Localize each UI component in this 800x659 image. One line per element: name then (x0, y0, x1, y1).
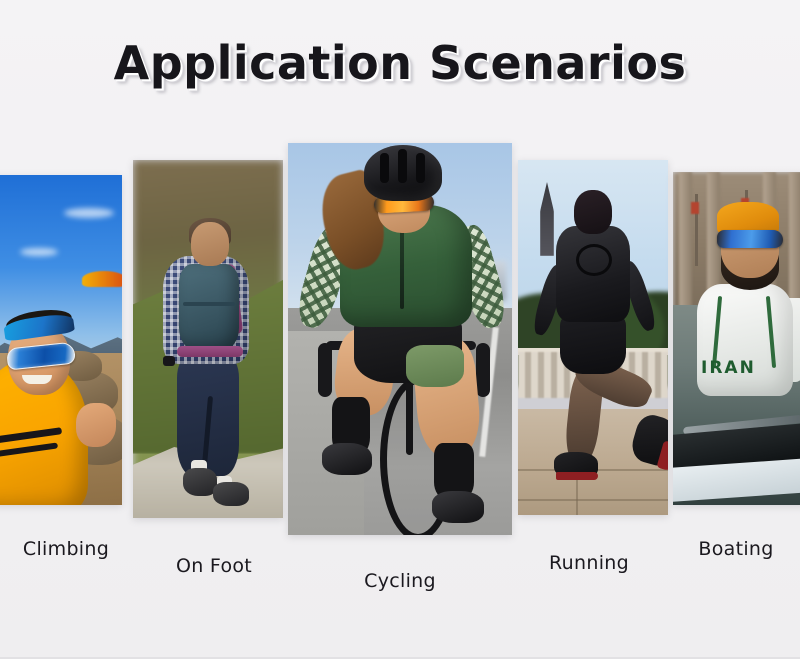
helmet-vent (380, 153, 389, 183)
scenario-label-climbing: Climbing (6, 538, 126, 560)
handlebar-drop (476, 343, 490, 397)
scenario-label-boating: Boating (676, 538, 796, 560)
white-rowing-jersey (697, 284, 793, 396)
scenario-label-running: Running (529, 552, 649, 574)
runner-head (574, 190, 612, 234)
shoe-sole (556, 472, 598, 480)
backpack (179, 264, 239, 350)
wrist-watch-icon (163, 356, 175, 366)
on-foot-photo (133, 160, 283, 518)
cycling-shoe (432, 491, 484, 523)
column (789, 172, 800, 312)
handlebar-drop (318, 343, 332, 397)
backpack-waist-belt (177, 346, 243, 357)
scenario-panel-on-foot[interactable] (133, 160, 283, 518)
hiker-head (191, 222, 229, 266)
scenario-label-on-foot: On Foot (154, 555, 274, 577)
climber-hand (76, 403, 116, 447)
backpack-compression-strap (183, 302, 235, 306)
cycling-shoe (322, 443, 372, 475)
running-photo (518, 160, 668, 515)
application-scenarios-banner: Application Scenarios Climbing (0, 0, 800, 659)
shirt-logo (576, 244, 612, 276)
column (679, 172, 692, 312)
climbing-photo (0, 175, 122, 505)
hiking-boot (183, 468, 217, 496)
scenario-panel-climbing[interactable] (0, 175, 122, 505)
climber-smile (22, 375, 52, 384)
scenario-panel-boating[interactable]: IRAN (673, 172, 800, 505)
scenario-panel-cycling[interactable] (288, 143, 512, 535)
cycling-photo (288, 143, 512, 535)
scenario-panel-running[interactable] (518, 160, 668, 515)
shield-sunglasses-icon (717, 230, 783, 248)
jersey-country-text: IRAN (701, 358, 775, 378)
page-title: Application Scenarios (0, 36, 800, 90)
helmet-vent (416, 153, 425, 183)
paraglider-icon (82, 271, 122, 287)
boating-photo: IRAN (673, 172, 800, 505)
pavement-joint (518, 499, 668, 501)
red-flag (691, 202, 699, 214)
scenario-label-cycling: Cycling (340, 570, 460, 592)
green-short-panel (406, 345, 464, 387)
hiking-boot (213, 482, 249, 506)
helmet-vent (398, 149, 407, 183)
cloud-icon (20, 248, 58, 256)
